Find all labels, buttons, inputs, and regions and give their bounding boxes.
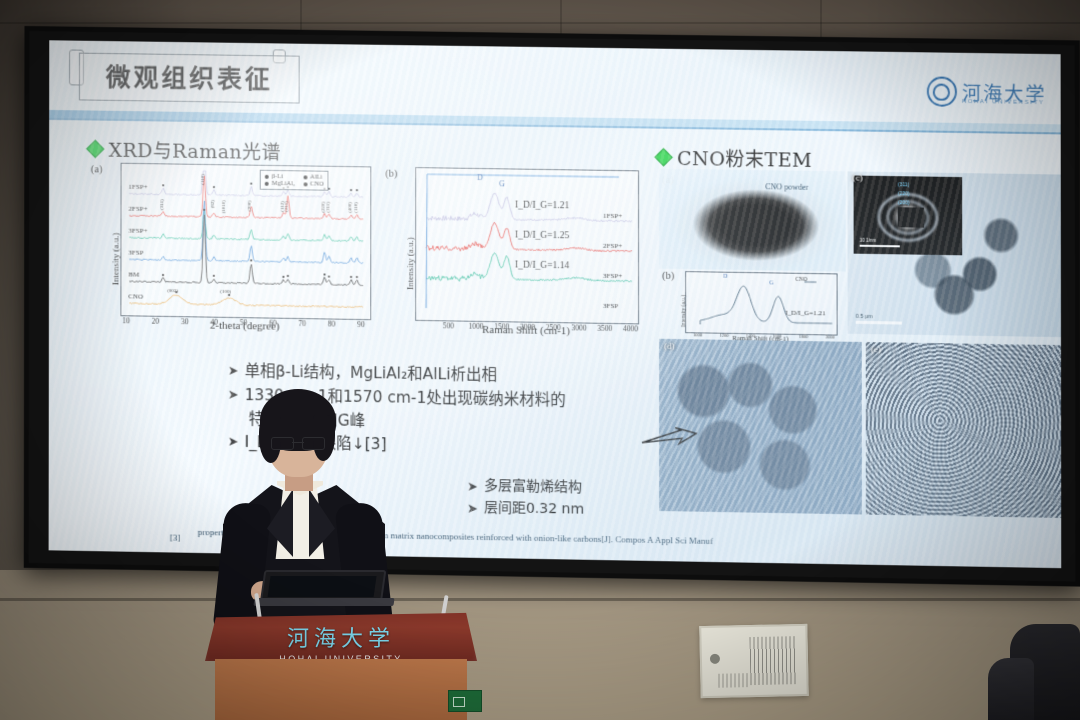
axis-tick: 3000 (572, 323, 587, 332)
saed-hkl-label: (311) (898, 182, 909, 188)
lecture-hall-photo: 微观组织表征 河海大学 HOHAI UNIVERSITY XRD与Raman光谱… (0, 0, 1080, 720)
cno-peak-label-d: D (723, 274, 727, 280)
raman-peak-label-d: D (477, 173, 483, 182)
axis-tick: 60 (269, 319, 276, 328)
series-label: 1FSP+ (128, 183, 147, 191)
series-label: 2FSP+ (128, 205, 147, 213)
axis-tick: 2000 (826, 334, 835, 339)
axis-tick: 20 (152, 317, 159, 326)
ratio-annotation: I_D/I_G=1.21 (515, 201, 569, 212)
xrd-legend: β-Li AlLi MgLiAl₂ CNO (260, 170, 329, 191)
arrow-bullet-icon: ➤ (467, 478, 478, 498)
plaque-stamp (718, 673, 748, 688)
annotation-arrow-icon (641, 427, 697, 448)
laptop-screen[interactable] (268, 576, 377, 597)
podium-body (215, 659, 467, 720)
cno-peak-label: (100) (220, 290, 231, 295)
panel-label-b: (b) (385, 169, 397, 180)
arrow-bullet-icon: ➤ (228, 362, 239, 382)
panel-label-tem-c: (c) (853, 172, 863, 182)
ratio-annotation: I_D/I_G=1.14 (515, 260, 569, 271)
xrd-plot-svg (121, 164, 370, 319)
axis-tick: 1500 (494, 322, 509, 331)
axis-tick: 40 (210, 318, 217, 327)
panel-label-tem-d: (d) (664, 341, 675, 351)
saed-scale-text: 10 1/nm (860, 238, 876, 243)
page-title: 微观组织表征 (79, 53, 300, 104)
miller-index-label: (82) (211, 200, 216, 208)
axis-tick: 30 (181, 317, 188, 326)
diamond-bullet-icon (654, 148, 672, 166)
exit-sign (448, 690, 482, 712)
raman-peak-label-g: G (499, 179, 505, 188)
axis-tick: 1400 (746, 333, 755, 338)
saed-scale-bar (860, 245, 900, 248)
page-title-text: 微观组织表征 (106, 63, 273, 94)
legend-label: CNO (310, 180, 324, 187)
axis-tick: 70 (298, 319, 305, 328)
axis-tick: 90 (357, 320, 364, 329)
series-label: 3FSP+ (603, 272, 622, 280)
cno-ratio-label: I_D/I_G=1.21 (785, 309, 825, 318)
arrow-bullet-icon: ➤ (467, 499, 478, 519)
miller-index-label: (211) (285, 201, 290, 212)
axis-tick: 500 (443, 321, 454, 330)
xrd-yaxis-label: Intensity (a.u.) (110, 233, 120, 286)
wall-plaque (699, 624, 808, 698)
hohai-emblem-icon (927, 76, 957, 106)
scale-bar (856, 321, 902, 325)
legend-label: MgLiAl₂ (272, 180, 295, 187)
series-label: 3FSP (128, 249, 143, 257)
axis-tick: 50 (240, 318, 247, 327)
cno-peak-label-g: G (769, 280, 773, 286)
axis-tick: 80 (328, 319, 335, 328)
diamond-bullet-icon (86, 140, 104, 158)
axis-tick: 1600 (773, 334, 782, 339)
series-label: 3FSP+ (128, 227, 147, 235)
axis-tick: 3500 (597, 324, 612, 333)
glasses-icon (271, 437, 325, 449)
podium-front-panel: 河海大学 HOHAI UNIVERSITY (205, 605, 477, 661)
plaque-text-block (749, 636, 796, 685)
scale-text: 0.5 μm (856, 314, 873, 320)
xrd-series-labels: 1FSP+2FSP+3FSP+3FSPBMCNO(311)(110)(82)(1… (49, 40, 1060, 54)
plaque-seal-icon (710, 654, 720, 664)
tem-image-cno-powder (659, 169, 846, 272)
list-item: ➤层间距0.32 nm (467, 499, 687, 522)
miller-index-label: (200) (248, 201, 253, 212)
miller-index-label: (110) (201, 174, 206, 185)
axis-tick: 1000 (693, 332, 702, 337)
raman-xaxis-ticks: 5001000150020002500300035004000 (49, 40, 1060, 54)
saed-pattern-inset: (311) (220) (200) 10 1/nm (854, 176, 963, 256)
axis-tick: 1000 (469, 322, 484, 331)
series-label: 2FSP+ (603, 242, 622, 250)
axis-tick: 10 (122, 316, 129, 325)
right-bullet-list: ➤多层富勒烯结构 ➤层间距0.32 nm (467, 478, 687, 525)
cno-xaxis-ticks: 100012001400160018002000 (49, 40, 1060, 54)
saed-hkl-label: (220) (898, 191, 910, 197)
floor-area (0, 570, 1080, 720)
miller-index-label: (311) (326, 202, 331, 213)
cno-yaxis-label: Intensity (a.u.) (681, 295, 687, 327)
legend-item: MgLiAl₂ (265, 180, 295, 187)
series-label: BM (128, 270, 139, 278)
list-item: ➤多层富勒烯结构 (467, 478, 687, 501)
miller-index-label: (110) (354, 202, 359, 213)
xrd-xaxis-ticks: 102030405060708090 (49, 40, 1060, 54)
saed-hkl-label: (200) (898, 200, 910, 206)
axis-tick: 2500 (546, 323, 561, 332)
miller-index-label: (311) (160, 199, 165, 210)
bullet-text: 多层富勒烯结构 (484, 478, 582, 499)
cno-raman-svg (686, 272, 836, 334)
section-heading-left-text: XRD与Raman光谱 (109, 136, 281, 165)
miller-index-label: (400) (348, 202, 353, 213)
wall-seam (0, 22, 1080, 24)
cno-powder-caption: CNO powder (765, 182, 808, 192)
section-heading-left: XRD与Raman光谱 (89, 135, 281, 165)
reference-number: [3] (170, 532, 180, 542)
miller-index-label: (1010) (222, 200, 227, 213)
legend-item: CNO (303, 180, 324, 187)
presentation-slide: 微观组织表征 河海大学 HOHAI UNIVERSITY XRD与Raman光谱… (49, 40, 1062, 568)
saed-beam-stop (898, 207, 924, 227)
university-logo: 河海大学 HOHAI UNIVERSITY (927, 76, 1047, 108)
logo-name-en: HOHAI UNIVERSITY (962, 99, 1045, 106)
podium-logo: 河海大学 HOHAI UNIVERSITY (279, 621, 402, 664)
bullet-text: 层间距0.32 nm (484, 499, 584, 520)
axis-tick: 1800 (799, 334, 808, 339)
panel-label-tem-b: (b) (662, 271, 674, 282)
bullet-text: 单相β-Li结构，MgLiAl₂和AlLi析出相 (245, 362, 497, 386)
series-label: 1FSP+ (603, 212, 622, 220)
presenter-laptop[interactable] (262, 570, 388, 606)
lectern-podium: 河海大学 HOHAI UNIVERSITY (205, 605, 477, 720)
ratio-annotation: I_D/I_G=1.25 (515, 230, 569, 241)
wall-floor-line (0, 598, 1080, 601)
series-label: CNO (128, 292, 143, 300)
tem-image-hrtem-e: (e) (866, 342, 1061, 518)
axis-tick: 1200 (720, 333, 729, 338)
tem-image-agglomerate: (311) (220) (200) 10 1/nm (c) 0.5 μm (848, 171, 1061, 337)
cno-raman-chart (685, 271, 838, 335)
series-label: 3FSP (603, 302, 618, 310)
panel-label-tem-e: (e) (871, 344, 881, 354)
panel-label-a: (a) (91, 164, 103, 175)
axis-tick: 4000 (623, 324, 638, 333)
axis-tick: 2000 (520, 323, 535, 332)
raman-annotations: I_D/I_G=1.211FSP+I_D/I_G=1.252FSP+I_D/I_… (49, 40, 1060, 54)
cno-peak-label: (002) (167, 289, 178, 294)
audience-person-right-2 (988, 658, 1034, 720)
podium-name-cn: 河海大学 (279, 621, 402, 653)
xrd-chart (120, 163, 371, 320)
raman-yaxis-label: Intensity (a.u.) (405, 237, 415, 290)
projection-screen: 微观组织表征 河海大学 HOHAI UNIVERSITY XRD与Raman光谱… (24, 26, 1080, 587)
cno-legend-label: CNO (795, 277, 807, 283)
